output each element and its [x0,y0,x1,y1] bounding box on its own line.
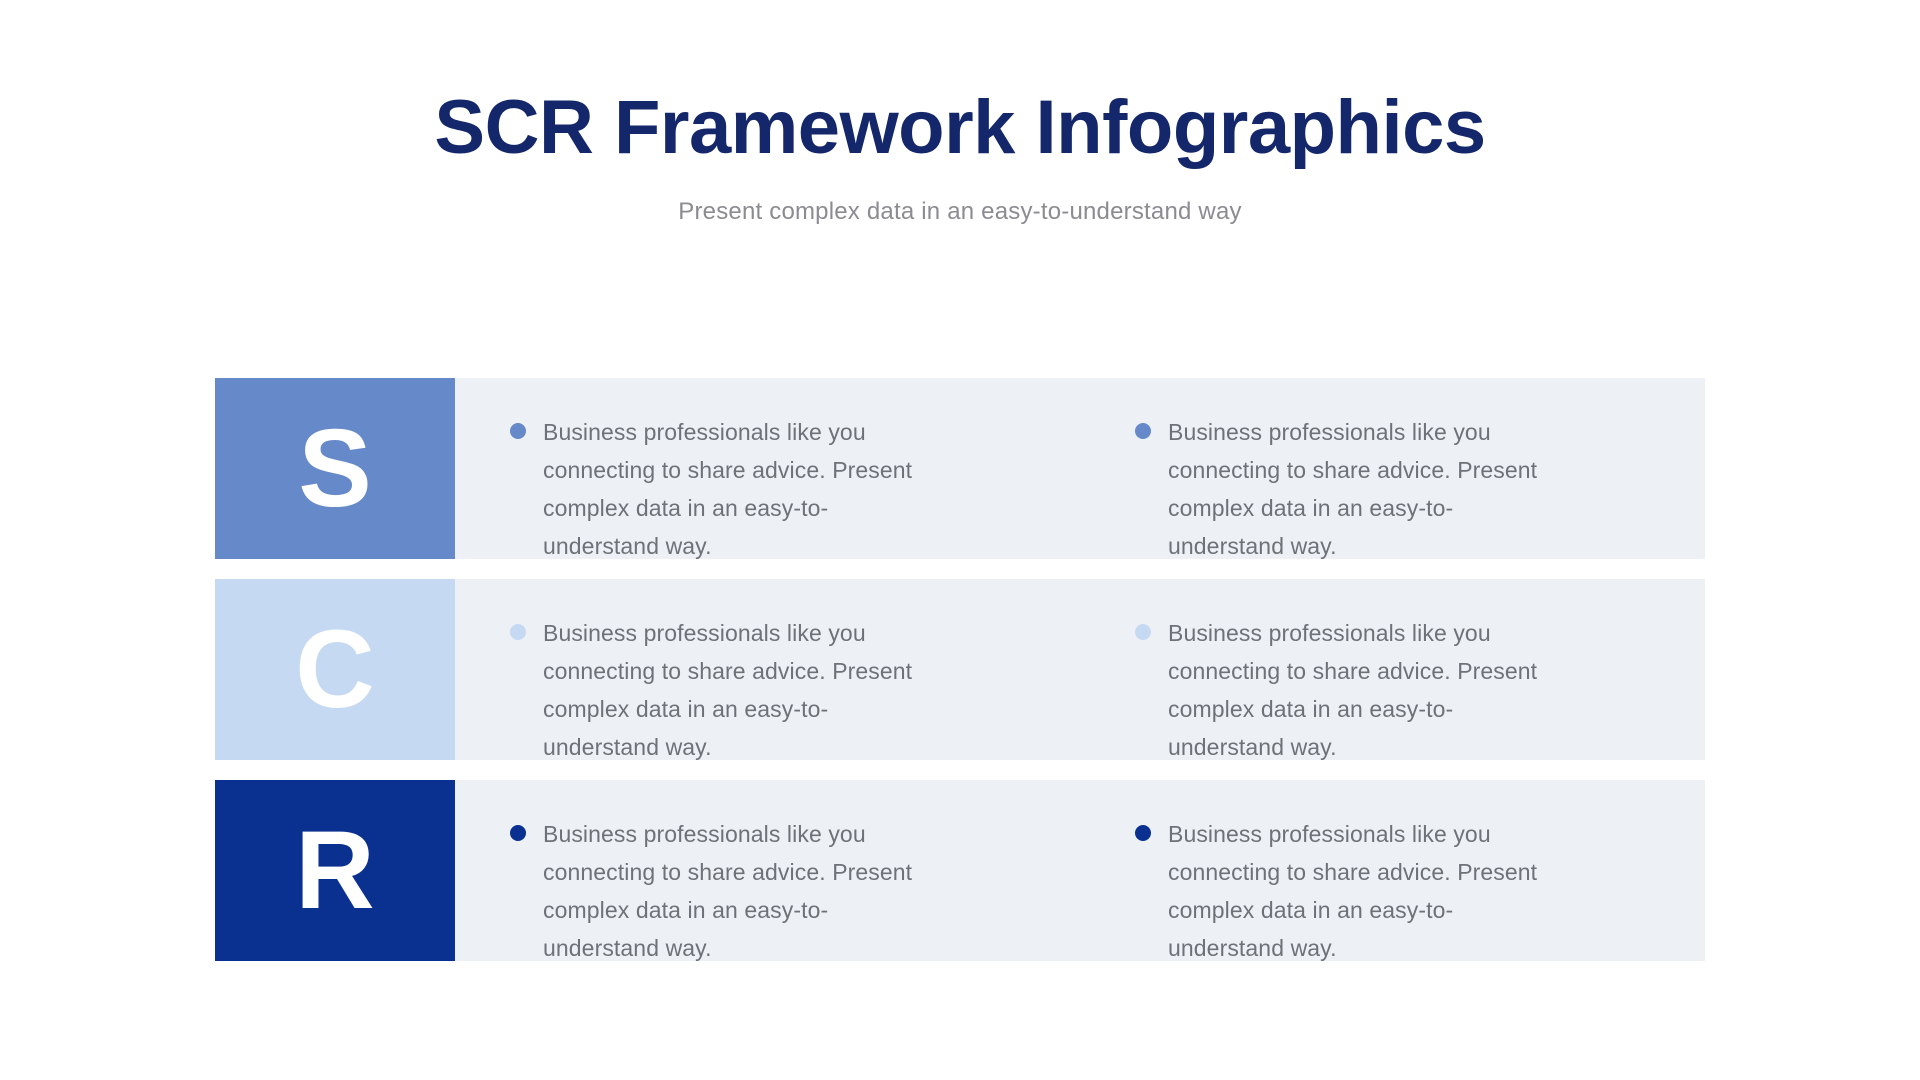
scr-row: R Business professionals like you connec… [215,780,1705,961]
letter-block-r: R [215,780,455,961]
slide-header: SCR Framework Infographics Present compl… [0,88,1920,227]
row-content: Business professionals like you connecti… [455,579,1705,760]
bullet-item: Business professionals like you connecti… [1080,413,1705,565]
infographic-slide: SCR Framework Infographics Present compl… [0,0,1920,1080]
page-title: SCR Framework Infographics [0,88,1920,168]
bullet-item: Business professionals like you connecti… [455,614,1080,766]
row-content: Business professionals like you connecti… [455,780,1705,961]
scr-row: C Business professionals like you connec… [215,579,1705,760]
bullet-text: Business professionals like you connecti… [543,413,943,565]
bullet-dot-icon [1135,825,1151,841]
bullet-dot-icon [1135,624,1151,640]
bullet-item: Business professionals like you connecti… [1080,815,1705,967]
letter-glyph: S [298,414,371,524]
letter-block-c: C [215,579,455,760]
scr-rows-container: S Business professionals like you connec… [215,378,1705,961]
bullet-text: Business professionals like you connecti… [543,614,943,766]
bullet-item: Business professionals like you connecti… [455,815,1080,967]
bullet-item: Business professionals like you connecti… [455,413,1080,565]
bullet-item: Business professionals like you connecti… [1080,614,1705,766]
bullet-text: Business professionals like you connecti… [1168,614,1568,766]
bullet-text: Business professionals like you connecti… [1168,413,1568,565]
row-content: Business professionals like you connecti… [455,378,1705,559]
bullet-dot-icon [510,825,526,841]
scr-row: S Business professionals like you connec… [215,378,1705,559]
letter-glyph: R [295,816,374,926]
letter-glyph: C [295,615,374,725]
bullet-text: Business professionals like you connecti… [1168,815,1568,967]
bullet-dot-icon [510,423,526,439]
page-subtitle: Present complex data in an easy-to-under… [0,196,1920,227]
bullet-dot-icon [510,624,526,640]
letter-block-s: S [215,378,455,559]
bullet-dot-icon [1135,423,1151,439]
bullet-text: Business professionals like you connecti… [543,815,943,967]
